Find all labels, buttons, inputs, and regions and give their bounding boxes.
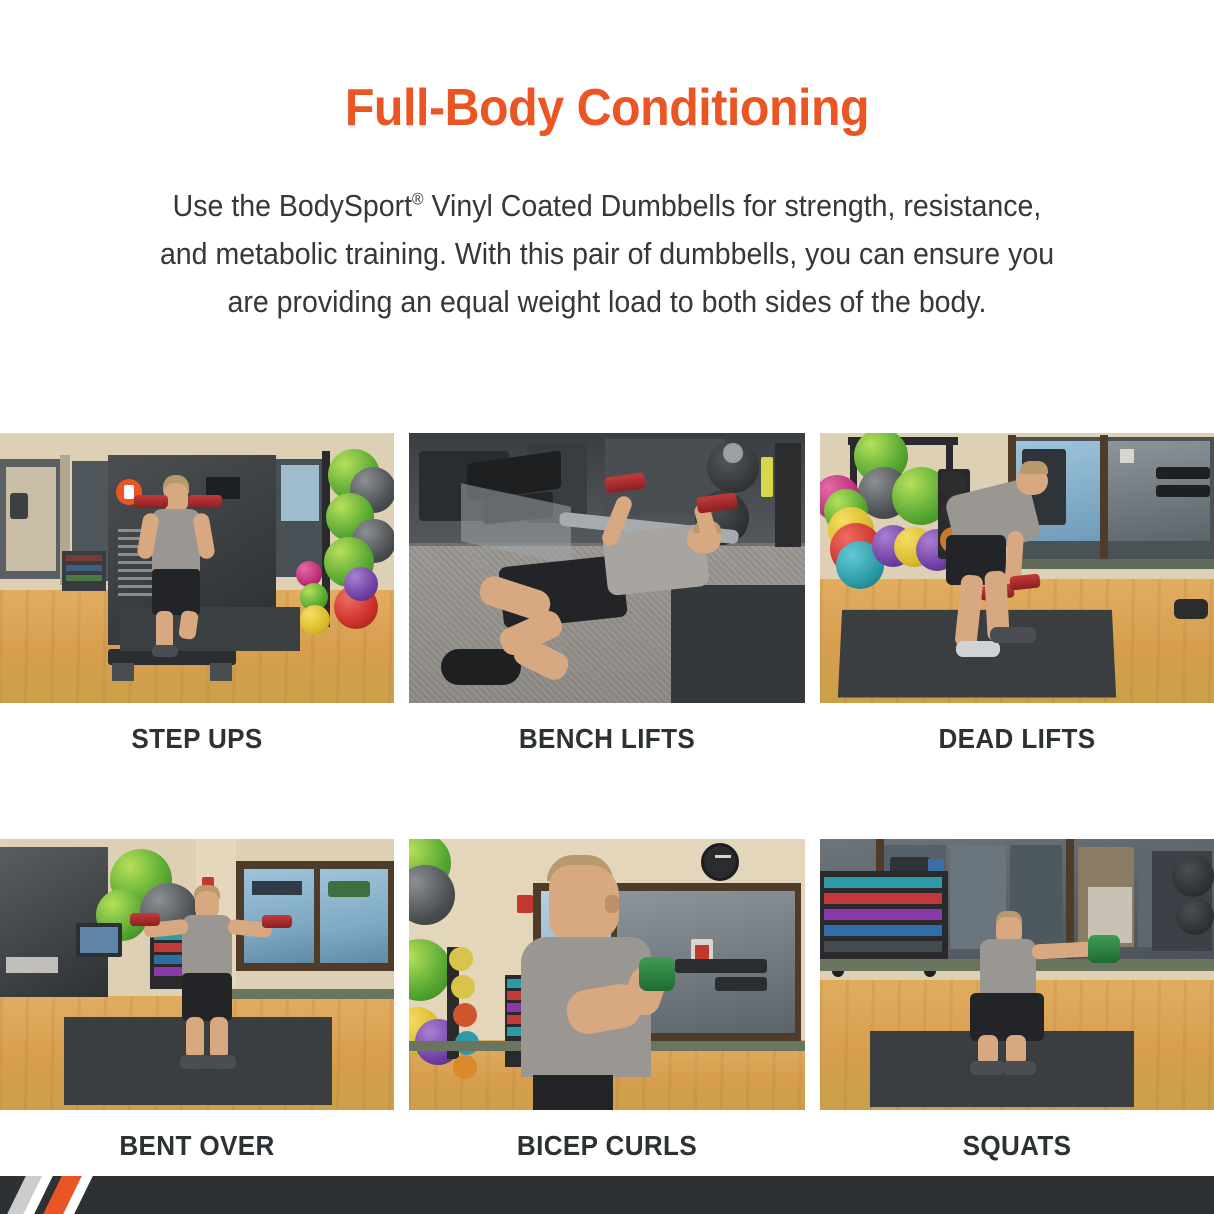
footer-bar bbox=[0, 1176, 1214, 1214]
exercise-card-bent-over: BENT OVER bbox=[0, 839, 394, 1162]
exercise-card-step-ups: STEP UPS bbox=[0, 433, 394, 755]
exercise-photo-bicep-curls bbox=[409, 839, 805, 1110]
poster-page: Full-Body Conditioning Use the BodySport… bbox=[0, 0, 1214, 1214]
exercise-caption: DEAD LIFTS bbox=[834, 723, 1200, 755]
intro-paragraph: Use the BodySport® Vinyl Coated Dumbbell… bbox=[147, 182, 1067, 326]
exercise-caption: BENCH LIFTS bbox=[423, 723, 791, 755]
registered-trademark-icon: ® bbox=[412, 190, 424, 209]
exercise-card-squats: SQUATS bbox=[820, 839, 1214, 1162]
exercise-card-bench-lifts: BENCH LIFTS bbox=[409, 433, 805, 755]
exercise-photo-step-ups bbox=[0, 433, 394, 703]
exercise-card-dead-lifts: DEAD LIFTS bbox=[820, 433, 1214, 755]
exercise-card-bicep-curls: BICEP CURLS bbox=[409, 839, 805, 1162]
exercise-caption: BENT OVER bbox=[14, 1130, 380, 1162]
exercise-caption: BICEP CURLS bbox=[423, 1130, 791, 1162]
page-title: Full-Body Conditioning bbox=[42, 78, 1171, 138]
intro-text-1: Use the BodySport bbox=[173, 188, 412, 223]
exercise-caption: SQUATS bbox=[834, 1130, 1200, 1162]
exercise-photo-squats bbox=[820, 839, 1214, 1110]
exercise-caption: STEP UPS bbox=[14, 723, 380, 755]
exercise-photo-bent-over bbox=[0, 839, 394, 1110]
intro-text-4: both sides of the body. bbox=[702, 284, 987, 319]
exercise-grid: STEP UPS bbox=[0, 433, 1214, 1162]
intro-text-1b: Vinyl Coated Dumbbells for strength, bbox=[424, 188, 896, 223]
exercise-photo-bench-lifts bbox=[409, 433, 805, 703]
exercise-photo-dead-lifts bbox=[820, 433, 1214, 703]
